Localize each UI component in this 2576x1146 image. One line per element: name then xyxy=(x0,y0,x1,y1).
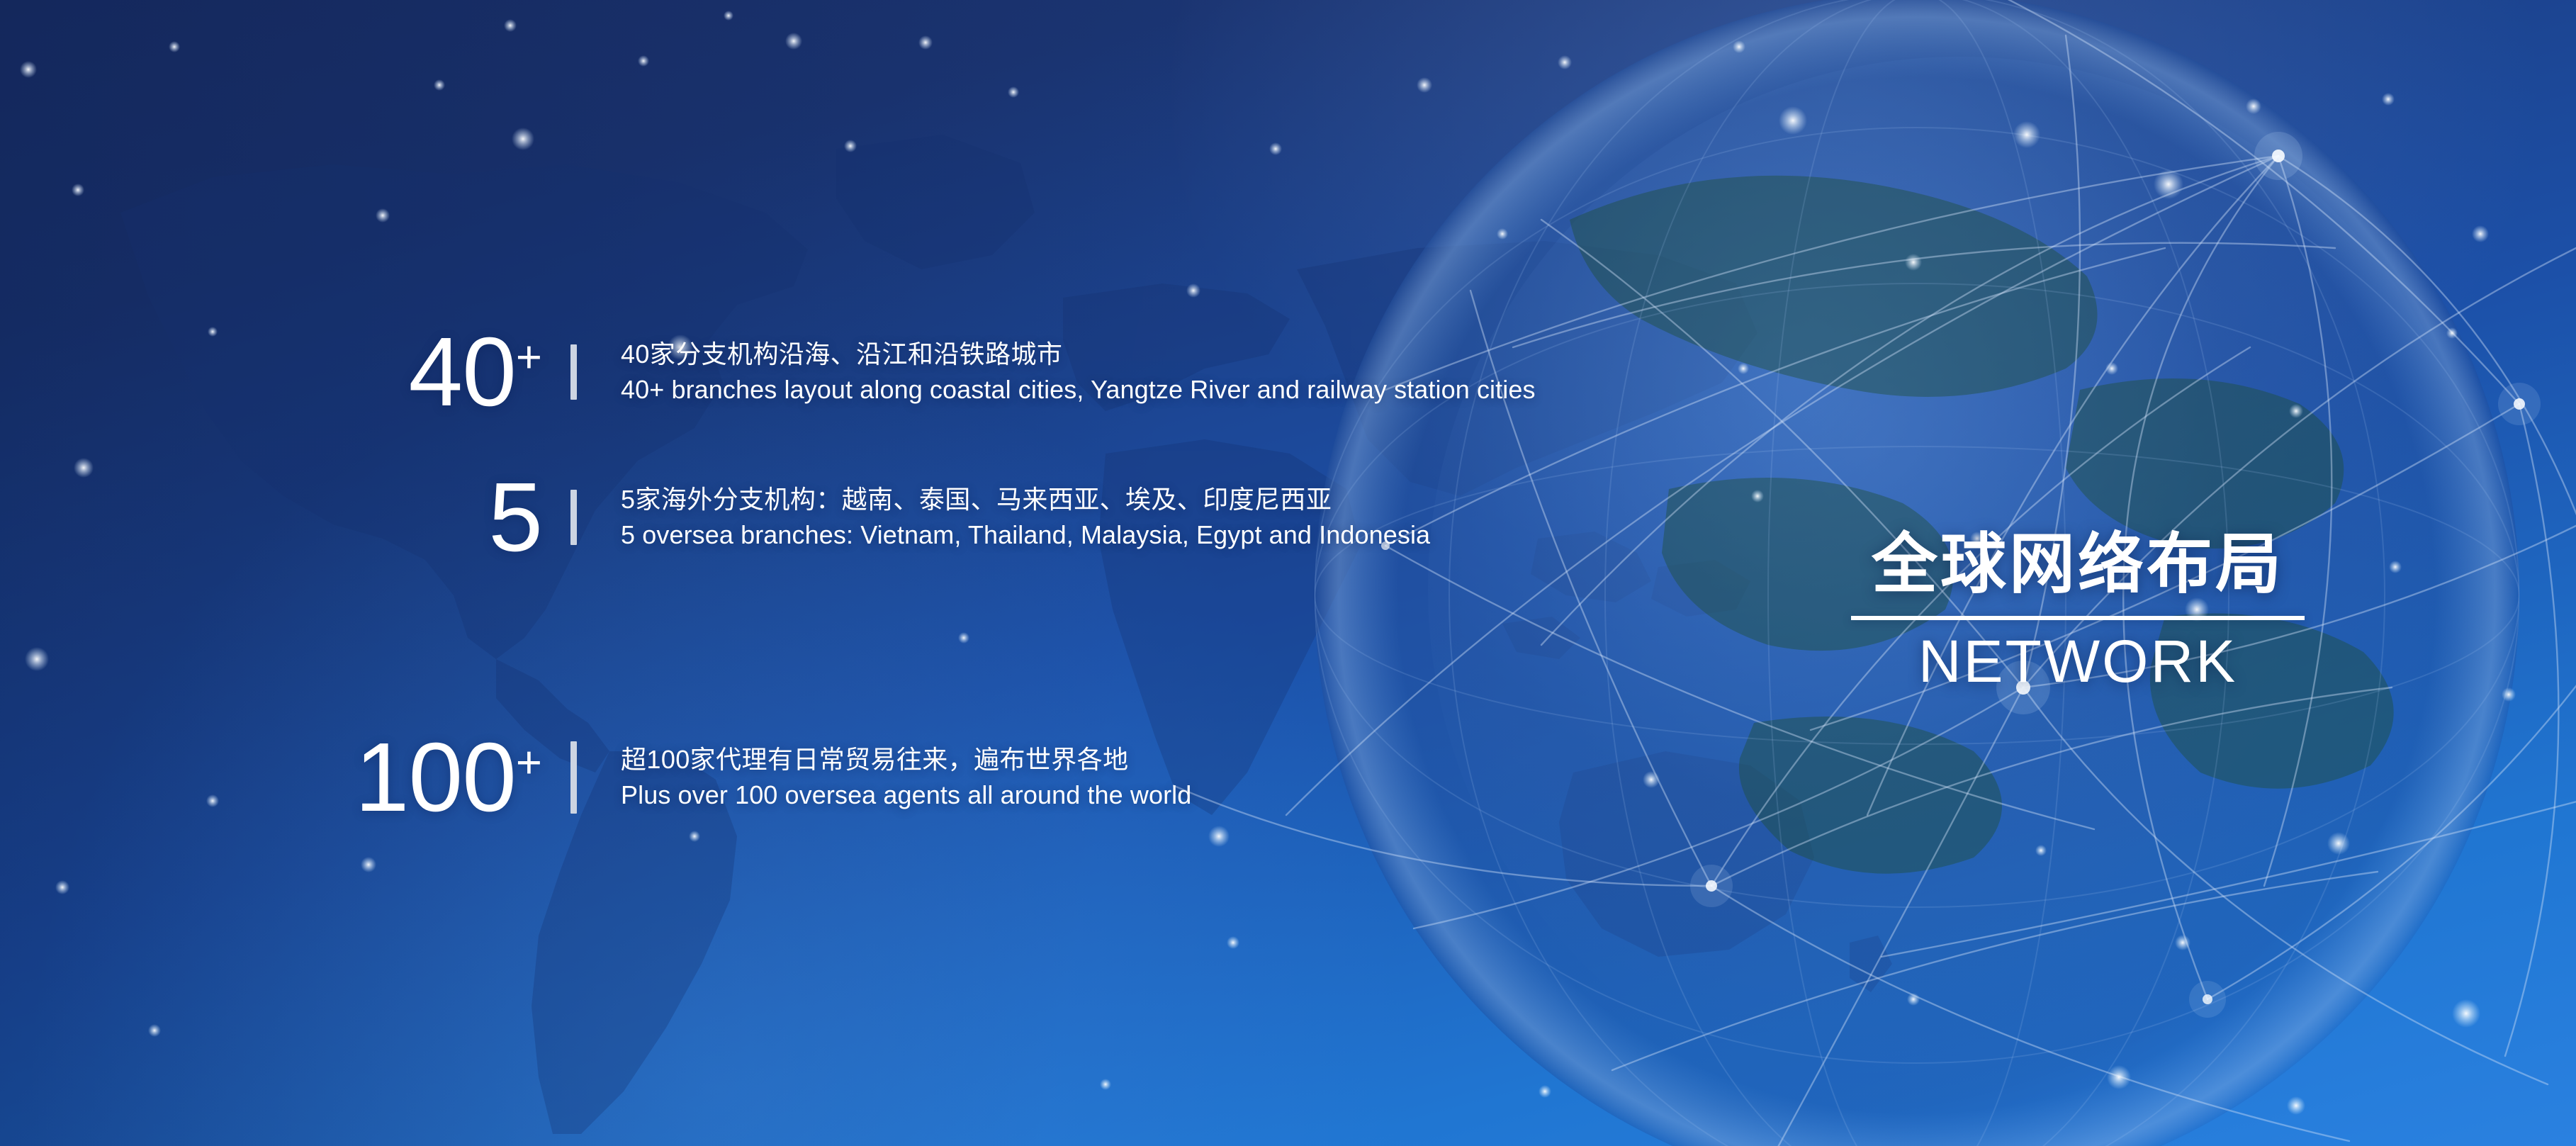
network-title-block: 全球网络布局 NETWORK xyxy=(1851,530,2305,693)
stat-value: 5 xyxy=(488,463,542,572)
stat-row-agents: 100+ 超100家代理有日常贸易往来，遍布世界各地 Plus over 100… xyxy=(184,724,1191,831)
stat-divider xyxy=(570,741,577,814)
stat-divider xyxy=(570,490,577,545)
stat-text-branches: 40家分支机构沿海、沿江和沿铁路城市 40+ branches layout a… xyxy=(621,337,1536,407)
stat-text-cn: 40家分支机构沿海、沿江和沿铁路城市 xyxy=(621,337,1536,372)
stat-value: 100 xyxy=(355,723,516,832)
stat-row-oversea-branches: 5 5家海外分支机构：越南、泰国、马来西亚、埃及、印度尼西亚 5 oversea… xyxy=(184,464,1430,571)
title-divider-rule xyxy=(1851,616,2305,620)
stat-text-cn: 超100家代理有日常贸易往来，遍布世界各地 xyxy=(621,742,1191,777)
stat-number-40: 40+ xyxy=(184,327,542,417)
stat-text-en: 40+ branches layout along coastal cities… xyxy=(621,372,1536,408)
stat-plus-suffix: + xyxy=(516,332,542,382)
banner-content: 40+ 40家分支机构沿海、沿江和沿铁路城市 40+ branches layo… xyxy=(0,0,2576,1146)
stat-text-en: Plus over 100 oversea agents all around … xyxy=(621,777,1191,813)
global-network-banner: 40+ 40家分支机构沿海、沿江和沿铁路城市 40+ branches layo… xyxy=(0,0,2576,1146)
page-title-cn: 全球网络布局 xyxy=(1851,530,2305,599)
stat-text-en: 5 oversea branches: Vietnam, Thailand, M… xyxy=(621,517,1430,553)
stat-number-100: 100+ xyxy=(184,733,542,823)
stat-text-oversea-branches: 5家海外分支机构：越南、泰国、马来西亚、埃及、印度尼西亚 5 oversea b… xyxy=(621,482,1430,552)
page-title-en: NETWORK xyxy=(1851,630,2305,693)
stat-row-branches: 40+ 40家分支机构沿海、沿江和沿铁路城市 40+ branches layo… xyxy=(184,319,1536,425)
stat-text-cn: 5家海外分支机构：越南、泰国、马来西亚、埃及、印度尼西亚 xyxy=(621,482,1430,517)
stat-value: 40 xyxy=(408,318,516,427)
stat-number-5: 5 xyxy=(184,473,542,563)
stat-divider xyxy=(570,344,577,400)
stat-plus-suffix: + xyxy=(516,738,542,787)
stat-text-agents: 超100家代理有日常贸易往来，遍布世界各地 Plus over 100 over… xyxy=(621,742,1191,812)
